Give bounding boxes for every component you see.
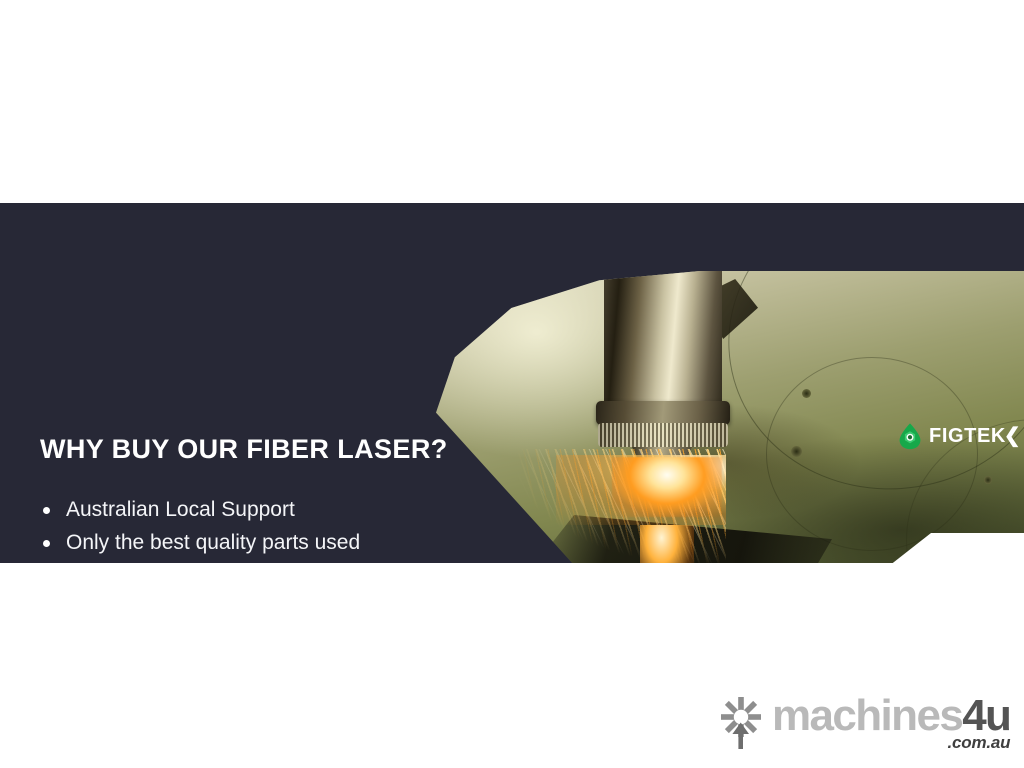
machines4u-watermark: machines4u .com.au	[716, 694, 1010, 751]
figtek-wordmark: FIGTEK❮	[929, 426, 1019, 446]
machines4u-wordmark: machines4u .com.au	[772, 694, 1010, 751]
laser-head-collar	[596, 401, 730, 425]
figtek-chevron-icon: ❮	[1004, 425, 1019, 447]
plate-pinhole	[802, 389, 811, 398]
machines4u-text-grey: machines	[772, 691, 962, 740]
figtek-logo: FIGTEK❮	[898, 422, 1019, 450]
laser-beam-glow	[612, 457, 722, 517]
banner-headline: WHY BUY OUR FIBER LASER?	[40, 435, 620, 465]
figtek-droplet-icon	[898, 422, 922, 450]
banner-copy: WHY BUY OUR FIBER LASER? Australian Loca…	[40, 435, 620, 563]
benefit-item: Only the best quality parts used	[40, 526, 620, 560]
promo-banner: Laser cutting head cutting a metal sheet…	[0, 203, 1024, 563]
figtek-wordmark-head: FIGTE	[929, 425, 991, 447]
benefit-item: Engineers with over 15 years of experien…	[40, 560, 620, 563]
machines4u-main-text: machines4u	[772, 694, 1010, 738]
starburst-arrow-icon	[716, 695, 766, 751]
page-canvas: Laser cutting head cutting a metal sheet…	[0, 0, 1024, 768]
figtek-wordmark-tail: K	[991, 425, 1004, 447]
plate-pinhole	[984, 476, 992, 484]
cut-edge-flare	[640, 525, 694, 563]
plate-pinhole	[791, 446, 802, 457]
benefit-item: Australian Local Support	[40, 493, 620, 527]
benefits-list: Australian Local Support Only the best q…	[40, 493, 620, 563]
